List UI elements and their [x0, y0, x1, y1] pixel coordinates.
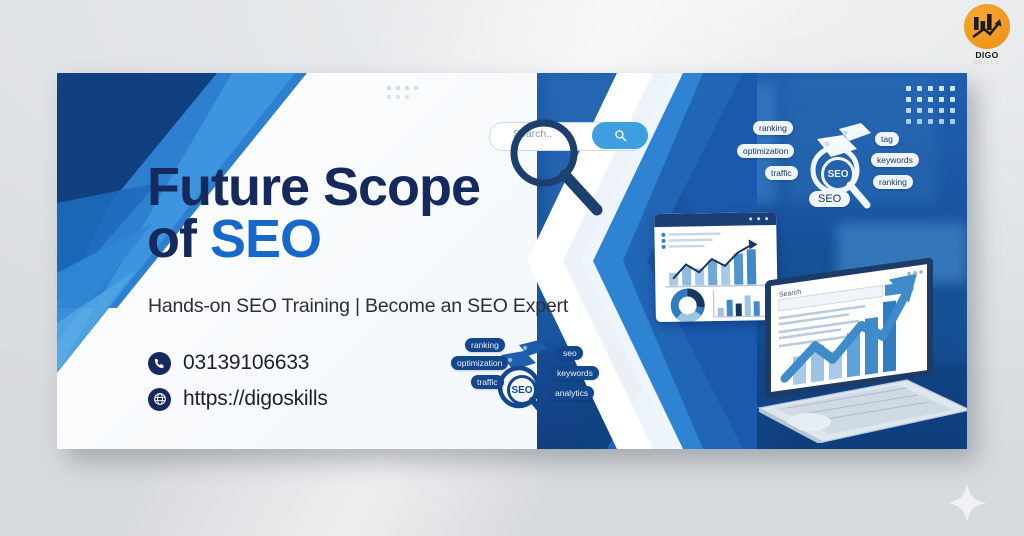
seo-banner-card: Search.. Future Scope of SEO Hands-on SE…: [57, 73, 967, 449]
logo-bar-arrow-icon: [971, 12, 1003, 42]
tag-tag-right: tag: [875, 132, 899, 146]
globe-icon: [148, 388, 171, 411]
tag-seo-bottom-right: SEO: [809, 191, 850, 207]
tag-analytics-left: analytics: [549, 386, 594, 400]
logo-title: DIGO: [975, 50, 998, 60]
contact-phone-row[interactable]: 03139106633: [148, 351, 328, 375]
tag-keywords-right: keywords: [871, 153, 919, 167]
phone-icon: [148, 352, 171, 375]
logo-badge: [964, 4, 1010, 49]
dashboard-list-lines: [661, 232, 720, 249]
tag-optimization-left: optimization: [451, 356, 508, 370]
dot-grid-left: [387, 86, 423, 104]
dashboard-donut-chart: [670, 287, 706, 322]
contact-block: 03139106633 https://digoskills: [148, 351, 328, 423]
seo-word-cloud-left: ranking optimization traffic seo keyword…: [457, 335, 627, 435]
headline-accent: SEO: [210, 209, 321, 269]
tag-ranking-right-1: ranking: [753, 121, 793, 135]
tag-traffic-left: traffic: [471, 375, 504, 389]
contact-website-row[interactable]: https://digoskills: [148, 387, 328, 411]
tag-ranking-left: ranking: [465, 338, 505, 352]
cloud-core-right: SEO: [821, 157, 855, 191]
tag-seo-left: seo: [557, 346, 583, 360]
subheadline: Hands-on SEO Training | Become an SEO Ex…: [148, 295, 568, 318]
cloud-core-left: SEO: [507, 375, 537, 405]
tag-ranking-right-2: ranking: [873, 175, 913, 189]
sparkle-star-icon: [946, 482, 988, 524]
logo-subtitle: SKILLS: [973, 60, 1000, 66]
tag-optimization-right: optimization: [737, 144, 794, 158]
headline-line-1: Future Scope: [147, 161, 617, 213]
phone-number: 03139106633: [183, 351, 309, 375]
digo-skills-logo[interactable]: DIGO SKILLS: [956, 4, 1018, 66]
page-title: Future Scope of SEO: [147, 161, 617, 266]
seo-word-cloud-right: ranking optimization traffic tag keyword…: [747, 115, 967, 225]
headline-line-2-prefix: of: [147, 209, 210, 269]
tag-traffic-right: traffic: [765, 166, 798, 180]
laptop-illustration: Search: [757, 258, 967, 448]
dashboard-title-bar: [654, 212, 776, 227]
website-url: https://digoskills: [183, 387, 328, 411]
tag-keywords-left: keywords: [551, 366, 599, 380]
